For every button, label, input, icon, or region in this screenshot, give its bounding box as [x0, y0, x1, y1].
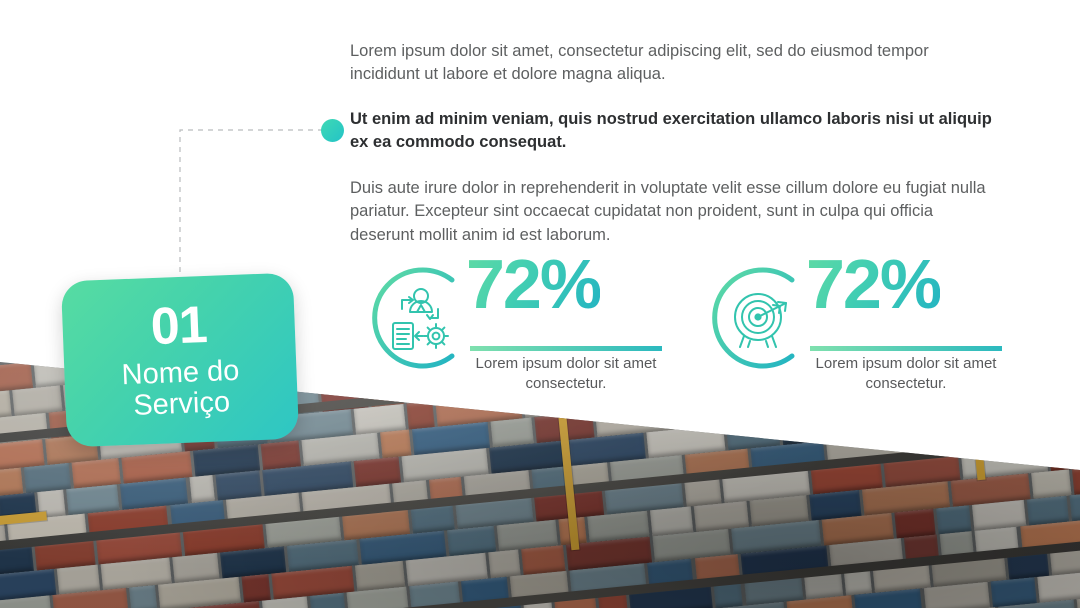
stat-block-2: 72% Lorem ipsum dolor sit amet consectet… [700, 258, 1010, 393]
stat-underline-2 [810, 346, 1002, 351]
paragraph-3: Duis aute irure dolor in reprehenderit i… [350, 177, 995, 247]
service-number: 01 [150, 299, 208, 353]
stat-caption-1: Lorem ipsum dolor sit amet consectetur. [466, 354, 666, 393]
bullet-dot-icon [321, 119, 344, 142]
target-arrow-icon [720, 279, 800, 359]
service-number-card[interactable]: 01 Nome do Serviço [61, 273, 299, 448]
slide: 01 Nome do Serviço Lorem ipsum dolor sit… [0, 0, 1080, 608]
paragraph-1: Lorem ipsum dolor sit amet, consectetur … [350, 40, 995, 87]
service-title: Nome do Serviço [121, 355, 241, 422]
stat-value-2: 72% [806, 249, 940, 319]
stat-underline-1 [470, 346, 662, 351]
stat-caption-2: Lorem ipsum dolor sit amet consectetur. [806, 354, 1006, 393]
service-title-line2: Serviço [122, 387, 241, 423]
process-workflow-person-gear-document-icon [380, 279, 460, 359]
stat-block-1: 72% Lorem ipsum dolor sit amet consectet… [360, 258, 670, 393]
stats-row: 72% Lorem ipsum dolor sit amet consectet… [360, 258, 1020, 393]
stat-value-1: 72% [466, 249, 600, 319]
body-copy: Lorem ipsum dolor sit amet, consectetur … [350, 40, 995, 268]
paragraph-2-highlight: Ut enim ad minim veniam, quis nostrud ex… [350, 108, 995, 155]
